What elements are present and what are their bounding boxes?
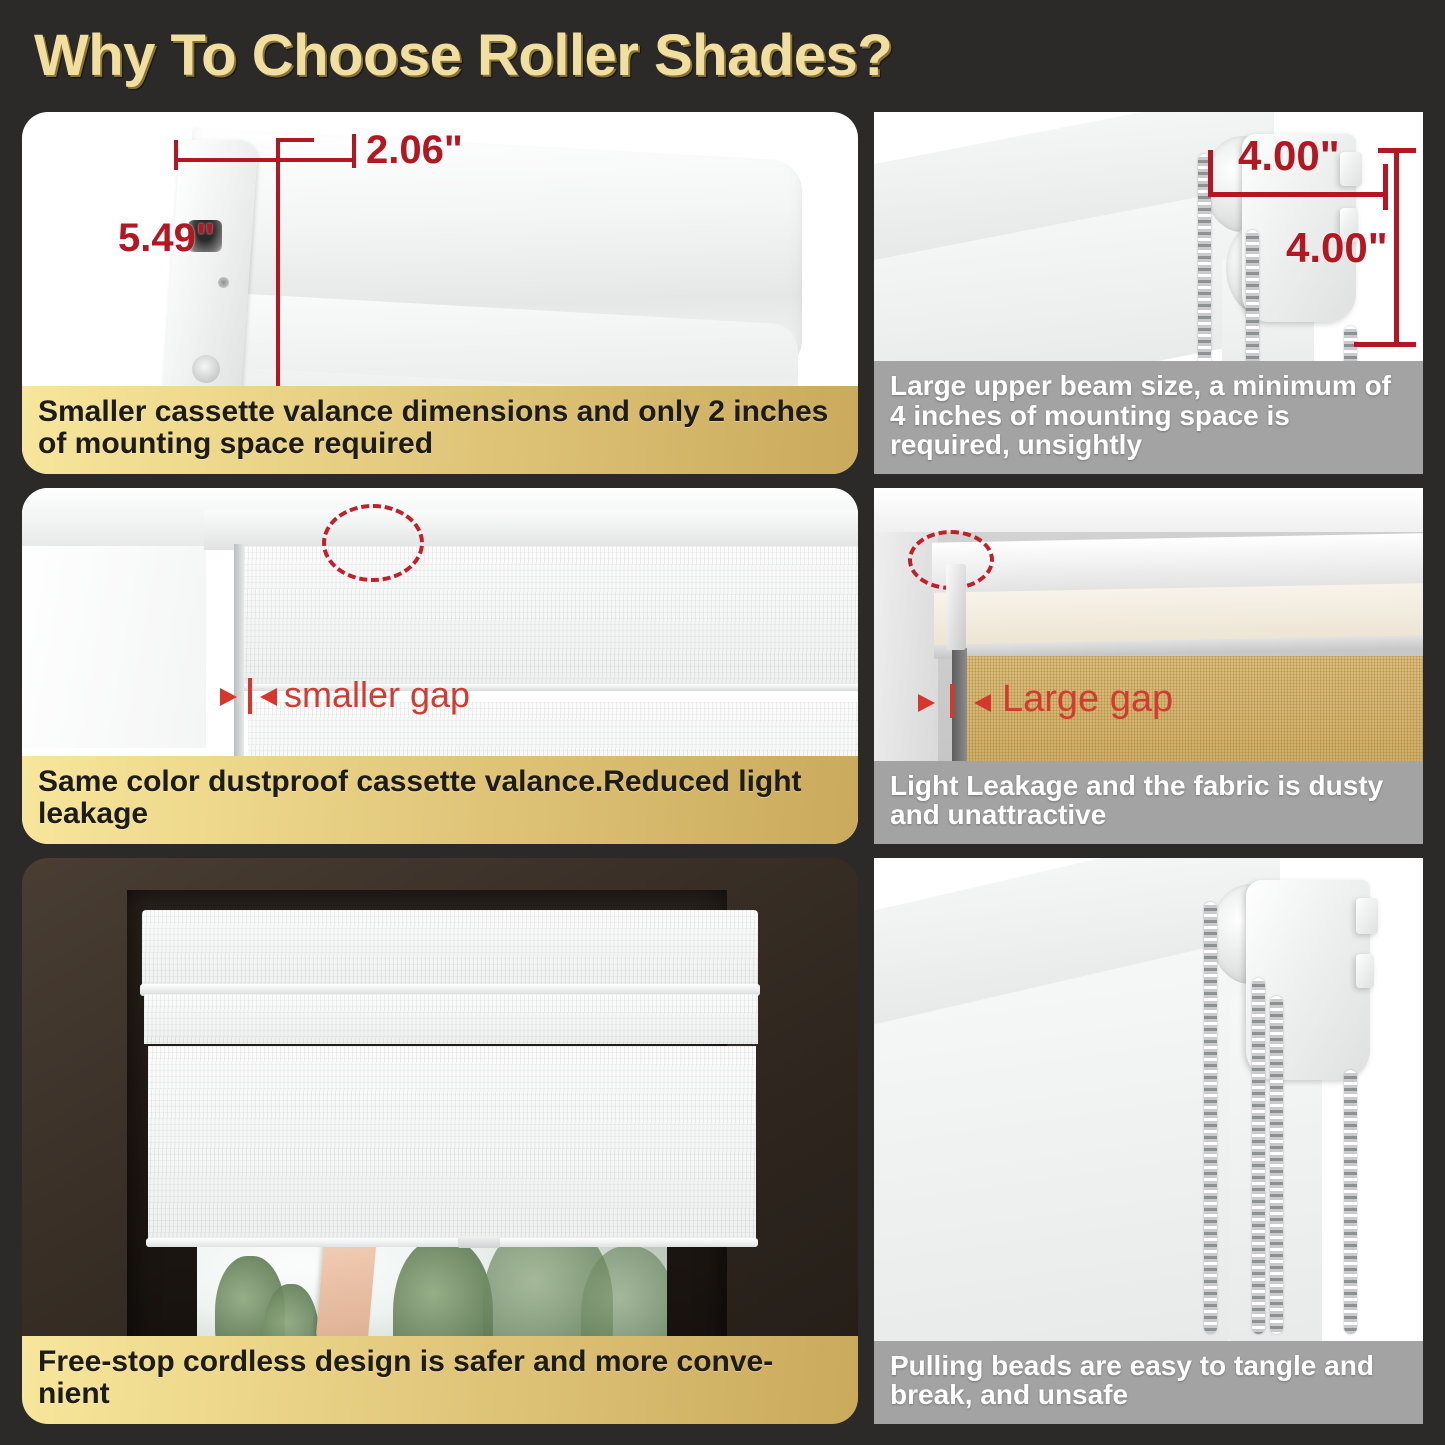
- bead-chain-mid: [1252, 978, 1265, 1334]
- bracket-tab-upper: [1340, 152, 1362, 186]
- beam-width-tick-left: [1208, 150, 1213, 196]
- panel-large-upper-beam: 4.00" 4.00" Large upper beam size, a min…: [874, 112, 1423, 474]
- gap-label: smaller gap: [284, 674, 470, 716]
- ceiling-band: [874, 488, 1423, 532]
- shade-hem-bar: [146, 1238, 758, 1247]
- gap-label: Large gap: [1002, 678, 1173, 721]
- bracket-tab-lower: [1356, 954, 1374, 988]
- window-frame-inner-bevel: [204, 510, 858, 550]
- panel-caption: Large upper beam size, a minimum of 4 in…: [874, 361, 1423, 474]
- bracket-tab-upper: [1356, 898, 1378, 934]
- panel-caption: Same color dustproof cassette valance.Re…: [22, 756, 858, 844]
- screw-icon: [192, 355, 220, 383]
- width-dim-line: [174, 158, 356, 162]
- panel-light-leakage-dusty-fabric: Large gap Light Leakage and the fabric i…: [874, 488, 1423, 844]
- gap-arrow-left: [220, 688, 237, 706]
- bracket-clip: [946, 564, 966, 650]
- bead-chain-left: [1204, 902, 1217, 1334]
- shade-pull-tab: [458, 1236, 500, 1248]
- gap-measure-bar: [950, 684, 954, 718]
- gap-arrow-right: [974, 694, 991, 712]
- width-dimension-label: 2.06": [366, 128, 463, 173]
- panel-dustproof-cassette-valance: smaller gap Same color dustproof cassett…: [22, 488, 858, 844]
- bead-chain-right: [1344, 1070, 1357, 1334]
- beam-height-tick-top: [1378, 148, 1416, 153]
- panel-pulling-beads-tangle: Pulling beads are easy to tangle and bre…: [874, 858, 1423, 1424]
- height-dim-tick-top: [276, 138, 314, 142]
- panel-caption: Smaller cassette valance dimensions and …: [22, 386, 858, 474]
- valance-front-band: [144, 994, 758, 1044]
- roller-shade-fabric: [148, 1046, 756, 1244]
- gap-arrow-right: [260, 688, 277, 706]
- page-title: Why To Choose Roller Shades?: [34, 22, 1034, 94]
- panel-caption: Pulling beads are easy to tangle and bre…: [874, 1341, 1423, 1424]
- gap-arrow-left: [918, 694, 935, 712]
- bead-chain-illustration: [874, 858, 1423, 1424]
- width-dim-tick-right: [352, 134, 356, 168]
- beam-width-dim-line: [1208, 192, 1388, 197]
- panel-caption: Free-stop cordless design is safer and m…: [22, 1336, 858, 1424]
- beam-height-tick-bottom: [1354, 342, 1416, 347]
- panel-free-stop-cordless-design: Free-stop cordless design is safer and m…: [22, 858, 858, 1424]
- width-dim-tick-left: [174, 140, 178, 170]
- height-dimension-label: 5.49": [118, 216, 215, 261]
- cassette-headrail: [142, 910, 758, 990]
- bead-chain-mid-2: [1270, 996, 1283, 1334]
- infographic-page: Why To Choose Roller Shades? 2.06" 5.49"…: [0, 0, 1445, 1445]
- beam-width-label: 4.00": [1238, 132, 1340, 180]
- fastener-dot-icon: [218, 277, 229, 288]
- panel-cassette-valance-dimensions: 2.06" 5.49" Smaller cassette valance dim…: [22, 112, 858, 474]
- beam-width-tick-right: [1383, 164, 1388, 210]
- gap-highlight-circle: [322, 504, 424, 582]
- beam-height-label: 4.00": [1286, 224, 1388, 272]
- gap-measure-bar: [248, 678, 252, 714]
- panel-caption: Light Leakage and the fabric is dusty an…: [874, 761, 1423, 844]
- gap-shadow-strip: [952, 648, 967, 764]
- beam-height-dim-line: [1394, 148, 1399, 346]
